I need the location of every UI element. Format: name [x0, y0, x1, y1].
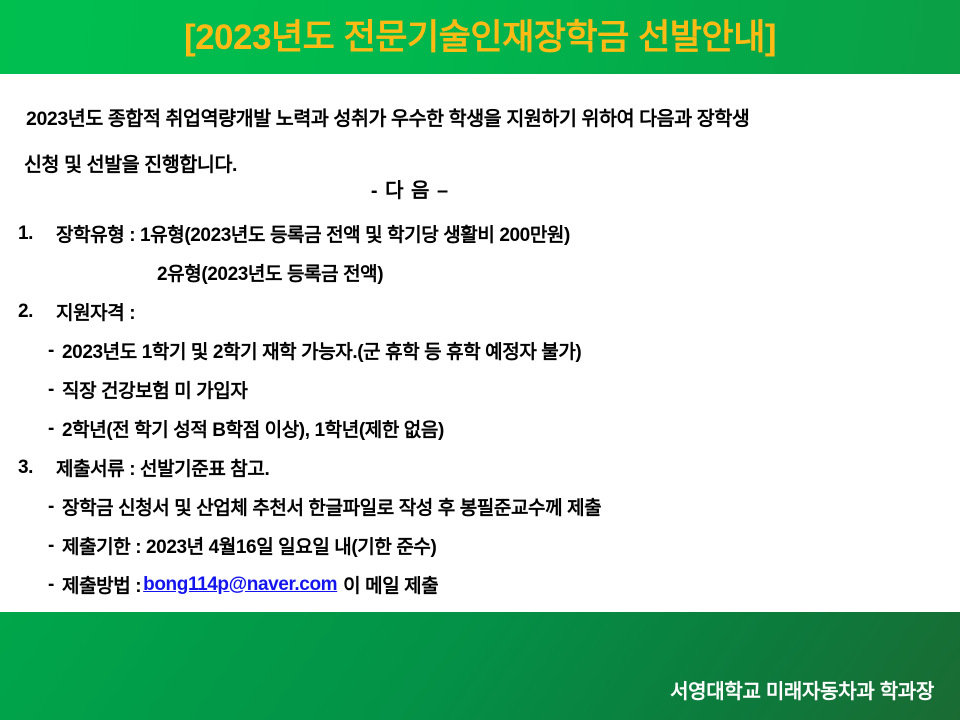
list-item: - 제출기한 : 2023년 4월16일 일요일 내(기한 준수) [0, 526, 960, 565]
header-banner: [2023년도 전문기술인재장학금 선발안내] [0, 0, 960, 74]
submit-method-label: 제출방법 : [62, 571, 141, 598]
list-item: 2유형(2023년도 등록금 전액) [0, 253, 960, 292]
email-link[interactable]: bong114p@naver.com [143, 574, 337, 596]
list-item-text: 지원자격 : [56, 298, 135, 325]
page-title: [2023년도 전문기술인재장학금 선발안내] [184, 20, 776, 55]
list-item-submit-method: - 제출방법 : bong114p@naver.com 이 메일 제출 [0, 565, 960, 604]
list-item-text: 제출서류 : 선발기준표 참고. [56, 454, 269, 481]
list-marker: 2. [18, 301, 56, 323]
footer-banner: 서영대학교 미래자동차과 학과장 [0, 612, 960, 720]
list-item: 1. 장학유형 : 1유형(2023년도 등록금 전액 및 학기당 생활비 20… [0, 214, 960, 253]
list-dash-marker: - [48, 379, 62, 401]
submit-method-suffix: 이 메일 제출 [343, 571, 438, 598]
list-item: - 장학금 신청서 및 산업체 추천서 한글파일로 작성 후 봉필준교수께 제출 [0, 487, 960, 526]
list-dash-marker: - [48, 496, 62, 518]
list-dash-marker: - [48, 418, 62, 440]
list-item-text: 2유형(2023년도 등록금 전액) [157, 259, 383, 286]
list-item-text: 제출기한 : 2023년 4월16일 일요일 내(기한 준수) [62, 532, 436, 559]
footer-signature: 서영대학교 미래자동차과 학과장 [670, 675, 934, 704]
announcement-list: 1. 장학유형 : 1유형(2023년도 등록금 전액 및 학기당 생활비 20… [0, 214, 960, 604]
list-item-text: 2학년(전 학기 성적 B학점 이상), 1학년(제한 없음) [62, 415, 444, 442]
list-item: - 2학년(전 학기 성적 B학점 이상), 1학년(제한 없음) [0, 409, 960, 448]
list-marker: 1. [18, 223, 56, 245]
content-area: 2023년도 종합적 취업역량개발 노력과 성취가 우수한 학생을 지원하기 위… [0, 74, 960, 612]
intro-line-1: 2023년도 종합적 취업역량개발 노력과 성취가 우수한 학생을 지원하기 위… [26, 108, 749, 130]
list-item-text: 직장 건강보험 미 가입자 [62, 376, 247, 403]
list-item: - 2023년도 1학기 및 2학기 재학 가능자.(군 휴학 등 휴학 예정자… [0, 331, 960, 370]
list-dash-marker: - [48, 574, 62, 596]
slide-page: [2023년도 전문기술인재장학금 선발안내] 2023년도 종합적 취업역량개… [0, 0, 960, 720]
list-item-text: 장학금 신청서 및 산업체 추천서 한글파일로 작성 후 봉필준교수께 제출 [62, 493, 601, 520]
list-item-text: 장학유형 : 1유형(2023년도 등록금 전액 및 학기당 생활비 200만원… [56, 220, 570, 247]
list-dash-marker: - [48, 535, 62, 557]
section-divider-label: - 다 음 – [0, 174, 820, 203]
list-marker: 3. [18, 457, 56, 479]
list-dash-marker: - [48, 340, 62, 362]
list-item-text: 2023년도 1학기 및 2학기 재학 가능자.(군 휴학 등 휴학 예정자 불… [62, 337, 581, 364]
list-item: 2. 지원자격 : [0, 292, 960, 331]
list-item: - 직장 건강보험 미 가입자 [0, 370, 960, 409]
list-item: 3. 제출서류 : 선발기준표 참고. [0, 448, 960, 487]
